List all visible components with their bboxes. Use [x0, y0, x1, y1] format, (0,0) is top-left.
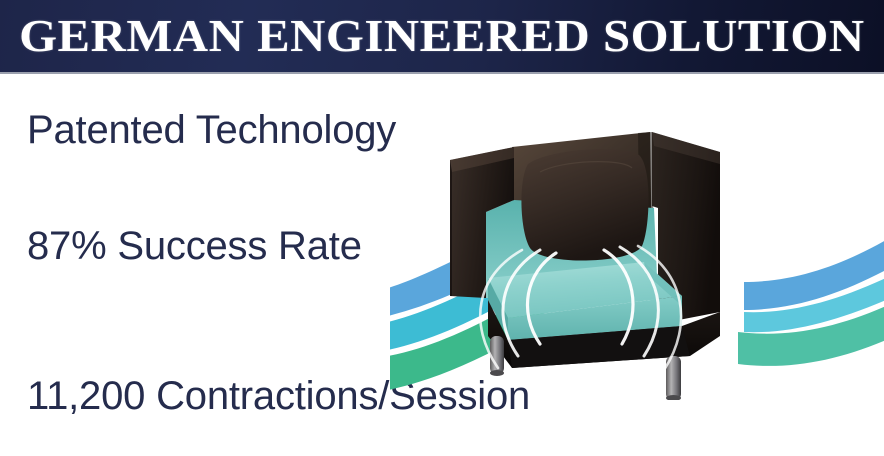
header-banner: GERMAN ENGINEERED SOLUTION: [0, 0, 884, 74]
slide-canvas: GERMAN ENGINEERED SOLUTION Patented Tech…: [0, 0, 884, 456]
ribbon-right: [738, 240, 884, 366]
chair-pillow: [521, 149, 648, 261]
bullet-item-patented-technology: Patented Technology: [27, 108, 396, 152]
banner-title: GERMAN ENGINEERED SOLUTION: [19, 13, 865, 59]
product-illustration: [390, 100, 884, 400]
bullet-item-success-rate: 87% Success Rate: [27, 224, 362, 268]
